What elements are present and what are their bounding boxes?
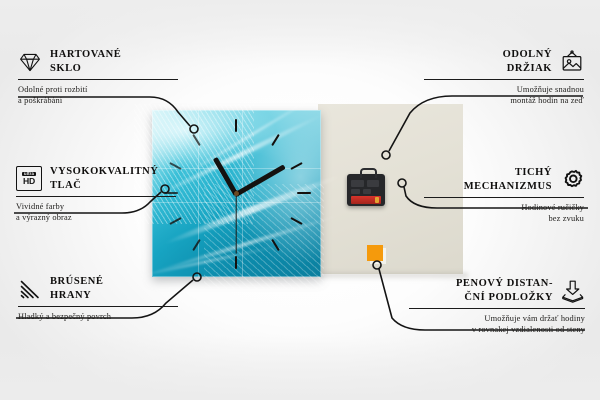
feature-subtitle: Vividné farby a výrazný obraz: [16, 201, 176, 224]
mechanism-slot: [351, 189, 360, 194]
feature-header: TICHÝ MECHANIZMUS: [424, 166, 584, 193]
feature-subtitle: Umožňuje vám držať hodiny v rovnakej vzd…: [409, 313, 585, 336]
product-infographic: HARTOVANÉ SKLO Odolné proti rozbití a po…: [0, 0, 600, 400]
feature-tempered-glass[interactable]: HARTOVANÉ SKLO Odolné proti rozbití a po…: [18, 48, 178, 107]
picture-hanger-icon: [560, 50, 584, 74]
clock-second-hand: [235, 194, 236, 254]
feature-header: HARTOVANÉ SKLO: [18, 48, 178, 75]
feature-subtitle: Odolné proti rozbití a poškrábání: [18, 84, 178, 107]
gear-icon: [560, 168, 584, 192]
feature-header: ultra HD VYSOKOKVALITNÝ TLAČ: [16, 165, 176, 192]
mechanism-slot: [367, 180, 379, 187]
feature-header: PENOVÝ DISTAN- ČNÍ PODLOŽKY: [409, 277, 585, 304]
clock-tick-3: [297, 192, 311, 194]
battery: [351, 196, 381, 204]
mechanism-slot: [363, 189, 371, 194]
feature-high-quality-print[interactable]: ultra HD VYSOKOKVALITNÝ TLAČ Vividné far…: [16, 165, 176, 224]
divider: [18, 79, 178, 80]
mechanism-slot: [351, 180, 364, 187]
feature-title: ODOLNÝ DRŽIAK: [503, 48, 552, 75]
feature-title: TICHÝ MECHANIZMUS: [464, 166, 552, 193]
clock-mechanism-photo: [347, 174, 385, 206]
feature-subtitle: Hodinové ručičky bez zvuku: [424, 202, 584, 225]
divider: [18, 306, 178, 307]
mechanism-hook: [360, 168, 377, 178]
clock-tick-6: [235, 256, 237, 269]
clock-tick-7: [192, 239, 201, 251]
feature-subtitle: Hladký a bezpečný povrch: [18, 311, 178, 322]
feature-foam-spacers[interactable]: PENOVÝ DISTAN- ČNÍ PODLOŽKY Umožňuje vám…: [409, 277, 585, 336]
feature-silent-mechanism[interactable]: TICHÝ MECHANIZMUS Hodinové ručičky bez z…: [424, 166, 584, 225]
feature-title: BRÚSENÉ HRANY: [50, 275, 103, 302]
polished-edges-icon: [18, 277, 42, 301]
feature-header: ODOLNÝ DRŽIAK: [424, 48, 584, 75]
clock-tick-12: [235, 119, 237, 132]
divider: [16, 196, 176, 197]
clock-center-pin: [234, 191, 239, 196]
feature-title: VYSOKOKVALITNÝ TLAČ: [50, 165, 158, 192]
feature-title: HARTOVANÉ SKLO: [50, 48, 121, 75]
feature-header: BRÚSENÉ HRANY: [18, 275, 178, 302]
feature-durable-hanger[interactable]: ODOLNÝ DRŽIAK Umožňuje snadnou montáž ho…: [424, 48, 584, 107]
feature-polished-edges[interactable]: BRÚSENÉ HRANY Hladký a bezpečný povrch: [18, 275, 178, 322]
download-tray-icon: [561, 279, 585, 303]
divider: [424, 197, 584, 198]
glass-reflection-line: [198, 110, 199, 277]
ultra-hd-icon: ultra HD: [16, 166, 42, 191]
wall-clock-photo: [152, 110, 321, 277]
hd-label: HD: [23, 177, 35, 186]
feature-subtitle: Umožňuje snadnou montáž hodin na zeď: [424, 84, 584, 107]
foam-spacer-photo: [367, 245, 383, 261]
divider: [424, 79, 584, 80]
divider: [409, 308, 585, 309]
diamond-icon: [18, 50, 42, 74]
feature-title: PENOVÝ DISTAN- ČNÍ PODLOŽKY: [456, 277, 553, 304]
